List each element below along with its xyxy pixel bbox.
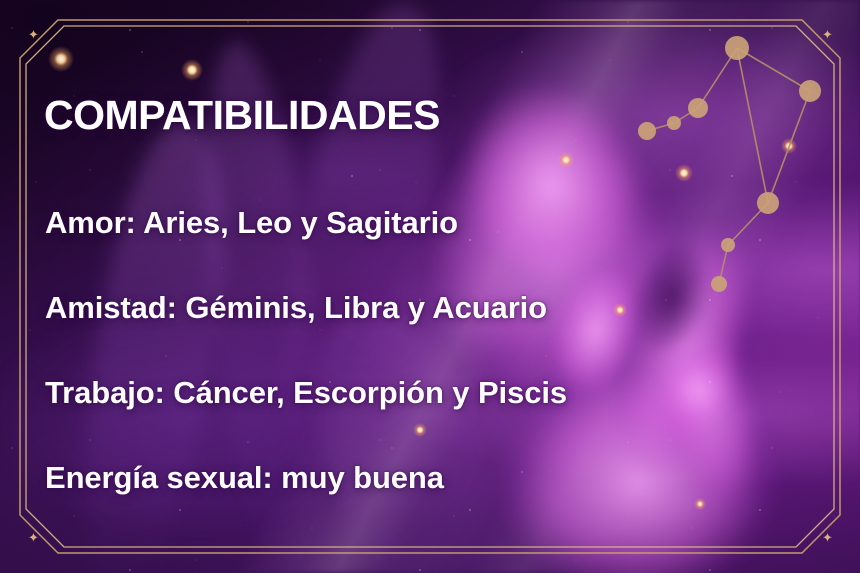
compatibility-line-trabajo: Trabajo: Cáncer, Escorpión y Piscis [45,375,567,411]
page-title: COMPATIBILIDADES [44,92,440,139]
text-content: COMPATIBILIDADES Amor: Aries, Leo y Sagi… [44,0,644,573]
constellation-node [757,192,779,214]
compatibility-line-amor: Amor: Aries, Leo y Sagitario [45,205,458,241]
constellation-line [737,48,810,91]
constellation-node [711,276,727,292]
sparkle-icon-top-left: ✦ [28,28,39,41]
constellation-node [725,36,749,60]
constellation-node [721,238,735,252]
compatibility-line-amistad: Amistad: Géminis, Libra y Acuario [45,290,547,326]
constellation-line [737,48,768,203]
constellation-node [688,98,708,118]
sparkle-icon-top-right: ✦ [822,28,833,41]
compatibility-line-energia: Energía sexual: muy buena [45,460,444,496]
horoscope-compatibility-card: ✦ ✦ ✦ ✦ COMPATIBILIDADES Amor: Aries, Le… [0,0,860,573]
sparkle-icon-bottom-left: ✦ [28,531,39,544]
constellation-line [768,91,810,203]
constellation-node [667,116,681,130]
constellation-node [799,80,821,102]
sparkle-icon-bottom-right: ✦ [822,531,833,544]
